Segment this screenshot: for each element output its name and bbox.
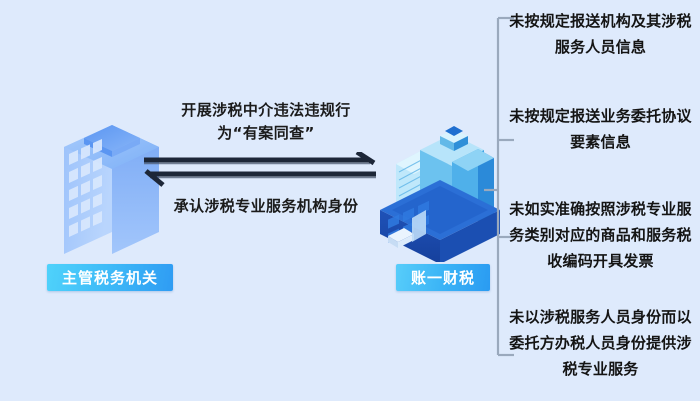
- list-item: 未按规定报送业务委托协议要素信息: [505, 103, 696, 155]
- bidirectional-arrows: [144, 152, 376, 196]
- violation-item-list: 未按规定报送机构及其涉税服务人员信息 未按规定报送业务委托协议要素信息 未如实准…: [505, 0, 700, 401]
- left-entity-badge: 主管税务机关: [47, 264, 173, 291]
- list-item: 未如实准确按照涉税专业服务类别对应的商品和服务税收编码开具发票: [505, 196, 696, 274]
- left-entity-label: 主管税务机关: [62, 267, 158, 288]
- arrow-caption-inbound: 承认涉税专业服务机构身份: [150, 195, 382, 218]
- list-item: 未按规定报送机构及其涉税服务人员信息: [505, 8, 696, 60]
- arrow-left-icon: [146, 171, 376, 185]
- right-entity-badge: 账一财税: [396, 264, 490, 291]
- arrow-right-icon: [144, 152, 374, 164]
- right-entity-label: 账一财税: [411, 267, 475, 288]
- list-item: 未以涉税服务人员身份而以委托方办税人员身份提供涉税专业服务: [505, 304, 696, 382]
- arrow-caption-outbound: 开展涉税中介违法违规行 为“有案同查”: [150, 99, 382, 145]
- diagram-canvas: 开展涉税中介违法违规行 为“有案同查” 承认涉税专业服务机构身份: [0, 0, 700, 401]
